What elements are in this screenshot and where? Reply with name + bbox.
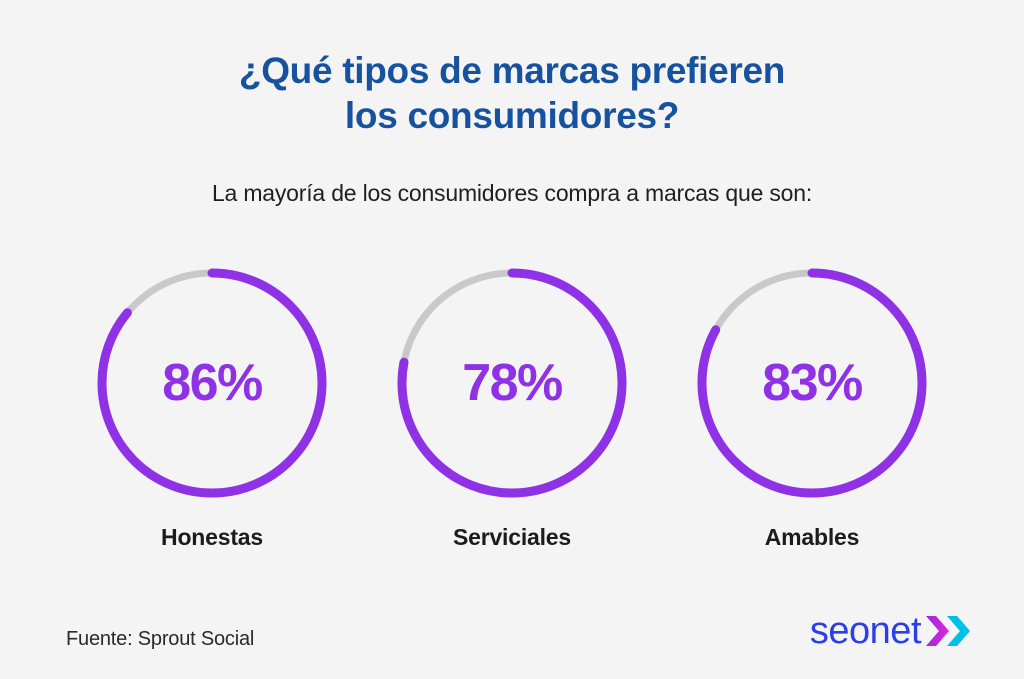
title-line-1: ¿Qué tipos de marcas prefieren <box>0 48 1024 93</box>
donut-chart-honestas: 86% Honestas <box>62 258 362 551</box>
page-title: ¿Qué tipos de marcas prefieren los consu… <box>0 48 1024 138</box>
donut-wrap-2: 83% <box>696 258 928 508</box>
chevron-2-icon <box>947 616 970 646</box>
donut-value-1: 78% <box>396 258 628 508</box>
donut-label-0: Honestas <box>161 524 263 551</box>
double-chevron-icon <box>926 614 972 648</box>
donut-chart-amables: 83% Amables <box>662 258 962 551</box>
subtitle: La mayoría de los consumidores compra a … <box>0 180 1024 207</box>
source-text: Fuente: Sprout Social <box>66 628 254 651</box>
donut-label-1: Serviciales <box>453 524 571 551</box>
chevron-1-icon <box>926 616 949 646</box>
donut-value-0: 86% <box>96 258 328 508</box>
infographic-canvas: ¿Qué tipos de marcas prefieren los consu… <box>0 0 1024 679</box>
donut-chart-row: 86% Honestas 78% Serviciales 83% <box>62 258 962 558</box>
seonet-logo-wordmark: seonet <box>810 612 921 650</box>
title-line-2: los consumidores? <box>0 93 1024 138</box>
donut-wrap-1: 78% <box>396 258 628 508</box>
donut-wrap-0: 86% <box>96 258 328 508</box>
donut-value-2: 83% <box>696 258 928 508</box>
seonet-logo[interactable]: seonet <box>810 612 972 650</box>
donut-label-2: Amables <box>765 524 859 551</box>
donut-chart-serviciales: 78% Serviciales <box>362 258 662 551</box>
